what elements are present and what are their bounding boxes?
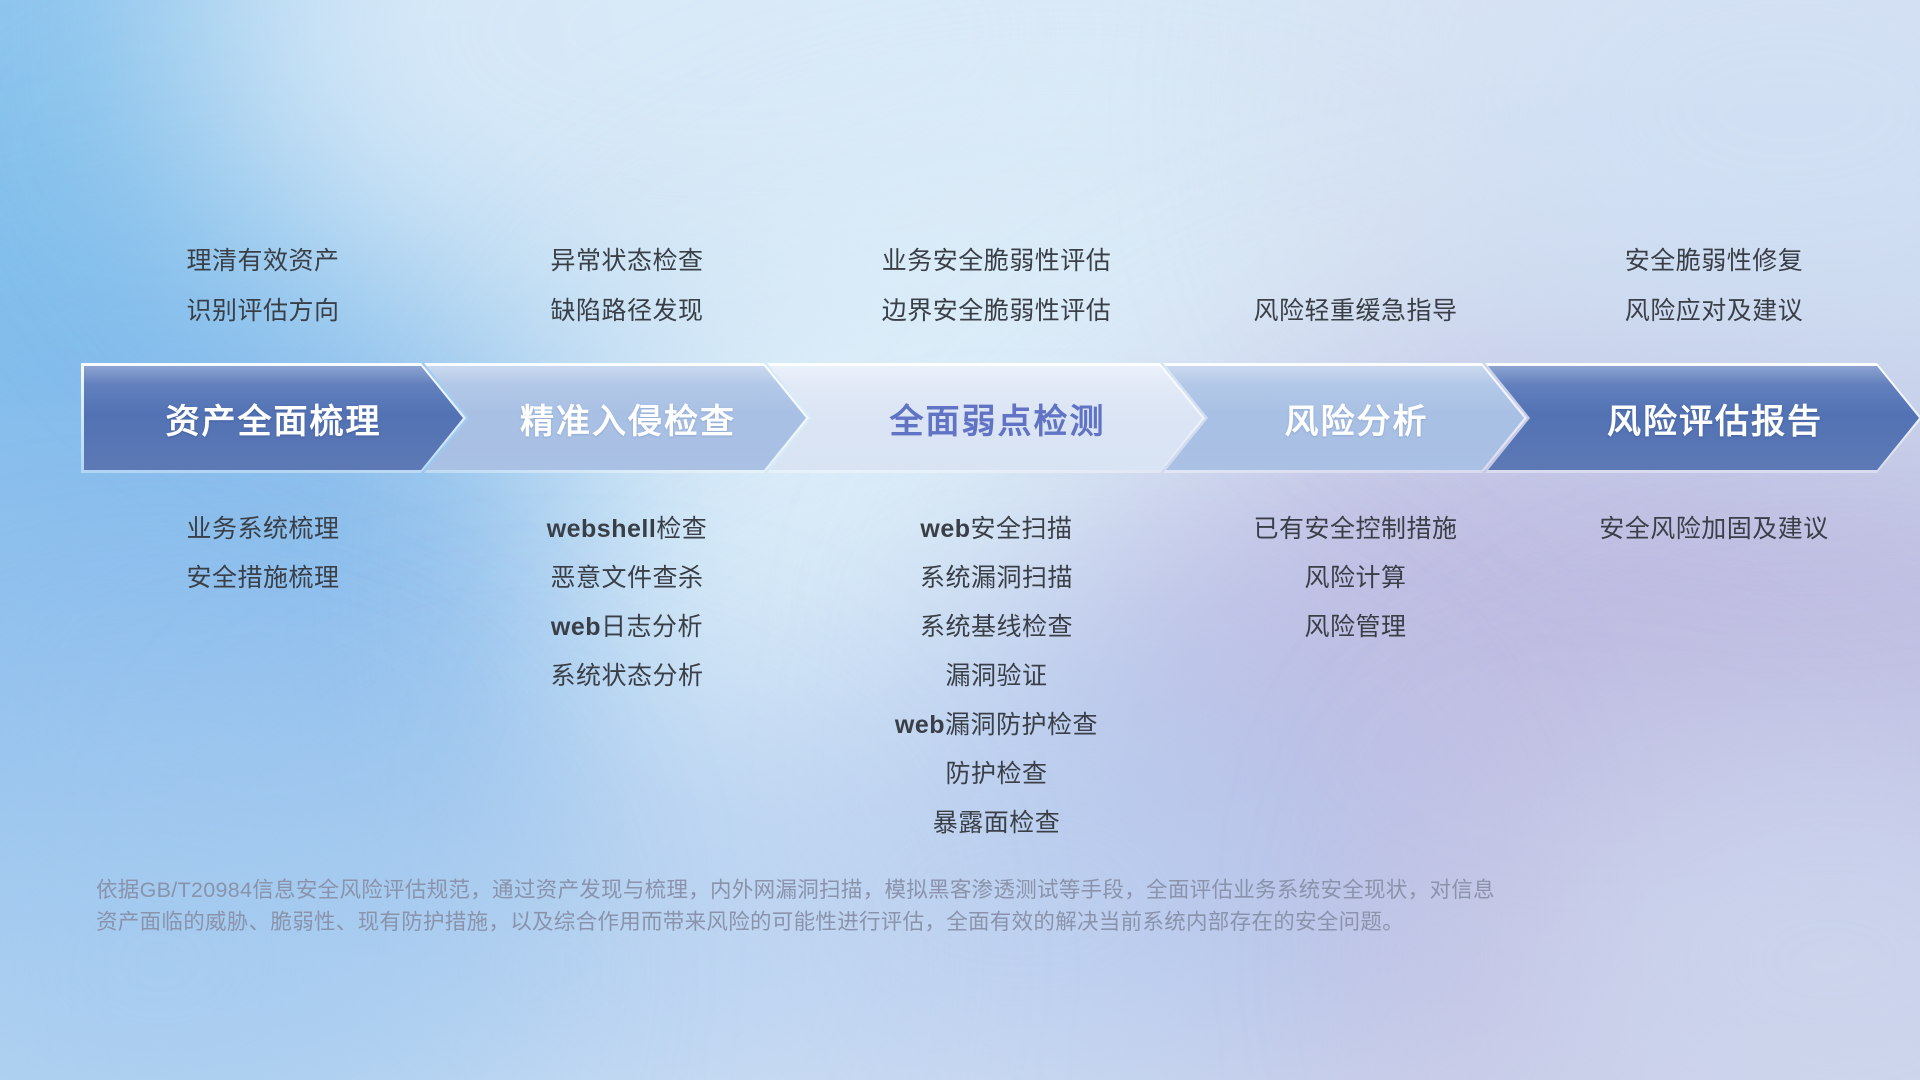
stage-bottom-item-prefix: web (551, 613, 601, 641)
stage-bottom-item-text: 漏洞验证 (945, 662, 1047, 690)
stage-top-item: 业务安全脆弱性评估 (791, 236, 1202, 286)
footer-line-2: 资产面临的威胁、脆弱性、现有防护措施，以及综合作用而带来风险的可能性进行评估，全… (96, 906, 1736, 938)
footer-description: 依据GB/T20984信息安全风险评估规范，通过资产发现与梳理，内外网漏洞扫描，… (96, 874, 1736, 938)
stage-bottom-item: 已有安全控制措施 (1187, 505, 1524, 554)
stage-bottom-item: 风险计算 (1187, 554, 1524, 603)
stage-bottom-item-text: 安全措施梳理 (186, 564, 339, 592)
stage-bottom-items-risk-report: 安全风险加固及建议 (1509, 505, 1919, 554)
stage-bottom-item-text: 系统漏洞扫描 (920, 564, 1073, 592)
stage-bottom-item-prefix: web (895, 711, 945, 739)
stage-bottom-item-text: 风险计算 (1304, 564, 1406, 592)
stage-top-item: 风险应对及建议 (1509, 286, 1919, 336)
stage-bottom-item-text: 业务系统梳理 (186, 515, 339, 543)
stage-bottom-item-prefix: web (920, 515, 970, 543)
stage-bottom-item-text: 安全扫描 (971, 515, 1073, 543)
stage-bottom-item-text: 系统状态分析 (550, 662, 703, 690)
stage-bottom-item-text: 系统基线检查 (920, 613, 1073, 641)
slide-canvas: 资产全面梳理精准入侵检查全面弱点检测风险分析风险评估报告 理清有效资产识别评估方… (0, 0, 1920, 1080)
stage-top-items-weakness-detection: 业务安全脆弱性评估边界安全脆弱性评估 (791, 236, 1202, 336)
stage-bottom-item: web漏洞防护检查 (791, 701, 1202, 750)
stage-bottom-item-text: 暴露面检查 (933, 809, 1061, 837)
stage-bottom-item: web安全扫描 (791, 505, 1202, 554)
stage-bottom-item-text: 恶意文件查杀 (550, 564, 703, 592)
stage-bottom-item: web日志分析 (448, 603, 806, 652)
stage-bottom-items-weakness-detection: web安全扫描系统漏洞扫描系统基线检查漏洞验证web漏洞防护检查防护检查暴露面检… (791, 505, 1202, 848)
stage-bottom-items-asset-inventory: 业务系统梳理安全措施梳理 (84, 505, 442, 603)
stage-bottom-item-text: 日志分析 (601, 613, 703, 641)
stage-top-items-risk-analysis: 风险轻重缓急指导 (1187, 286, 1524, 336)
stage-top-item: 安全脆弱性修复 (1509, 236, 1919, 286)
stage-top-item: 边界安全脆弱性评估 (791, 286, 1202, 336)
stage-bottom-item: 恶意文件查杀 (448, 554, 806, 603)
stage-top-item: 理清有效资产 (84, 236, 442, 286)
stage-top-item: 风险轻重缓急指导 (1187, 286, 1524, 336)
stage-bottom-item: webshell检查 (448, 505, 806, 554)
stage-bottom-item: 安全风险加固及建议 (1509, 505, 1919, 554)
stage-bottom-item: 系统基线检查 (791, 603, 1202, 652)
stage-bottom-items-intrusion-check: webshell检查恶意文件查杀web日志分析系统状态分析 (448, 505, 806, 701)
stage-bottom-item-text: 风险管理 (1304, 613, 1406, 641)
stage-bottom-item: 业务系统梳理 (84, 505, 442, 554)
stage-bottom-item: 安全措施梳理 (84, 554, 442, 603)
stage-top-items-intrusion-check: 异常状态检查缺陷路径发现 (448, 236, 806, 336)
stage-top-item: 识别评估方向 (84, 286, 442, 336)
stage-top-item: 异常状态检查 (448, 236, 806, 286)
stage-bottom-item-text: 检查 (656, 515, 707, 543)
stage-top-item: 缺陷路径发现 (448, 286, 806, 336)
stage-bottom-items-risk-analysis: 已有安全控制措施风险计算风险管理 (1187, 505, 1524, 652)
stage-bottom-item: 暴露面检查 (791, 799, 1202, 848)
stage-bottom-item: 漏洞验证 (791, 652, 1202, 701)
stage-bottom-item-text: 安全风险加固及建议 (1599, 515, 1829, 543)
stage-bottom-item-text: 漏洞防护检查 (945, 711, 1098, 739)
footer-line-1: 依据GB/T20984信息安全风险评估规范，通过资产发现与梳理，内外网漏洞扫描，… (96, 874, 1736, 906)
stage-bottom-item: 系统状态分析 (448, 652, 806, 701)
stage-bottom-item: 风险管理 (1187, 603, 1524, 652)
stage-top-items-risk-report: 安全脆弱性修复风险应对及建议 (1509, 236, 1919, 336)
stage-top-items-asset-inventory: 理清有效资产识别评估方向 (84, 236, 442, 336)
stage-bottom-item-prefix: webshell (547, 515, 657, 543)
stage-bottom-item: 系统漏洞扫描 (791, 554, 1202, 603)
stage-bottom-item-text: 防护检查 (945, 760, 1047, 788)
stage-bottom-item-text: 已有安全控制措施 (1253, 515, 1457, 543)
stage-bottom-item: 防护检查 (791, 750, 1202, 799)
